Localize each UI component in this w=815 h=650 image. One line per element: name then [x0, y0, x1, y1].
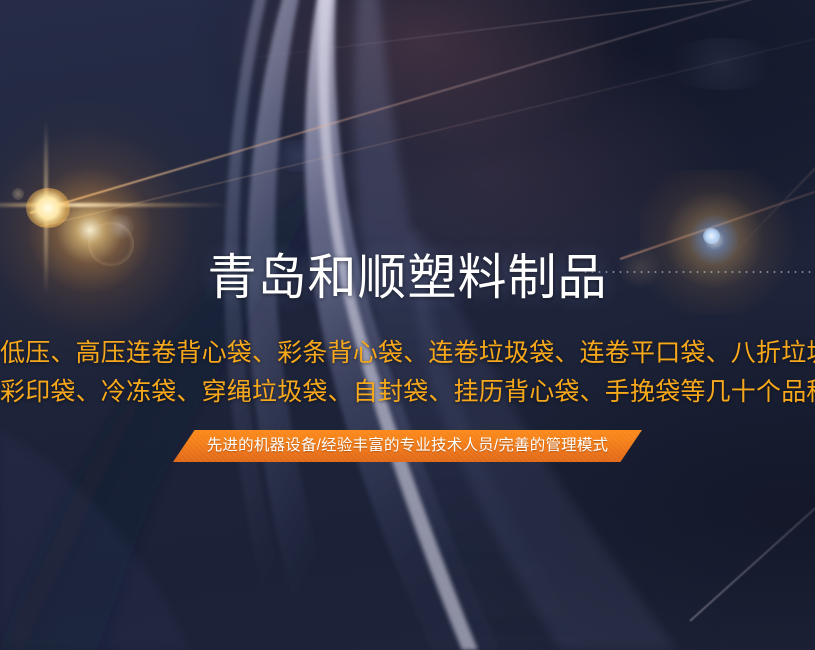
banner-title: 青岛和顺塑料制品 — [0, 250, 815, 306]
tagline-ribbon: 先进的机器设备/经验丰富的专业技术人员/完善的管理模式 — [173, 430, 642, 462]
product-list-line-1: 低压、高压连卷背心袋、彩条背心袋、连卷垃圾袋、连卷平口袋、八折垃圾袋、 — [0, 338, 815, 368]
ribbon-label: 先进的机器设备/经验丰富的专业技术人员/完善的管理模式 — [173, 430, 642, 462]
promotional-banner: 青岛和顺塑料制品 低压、高压连卷背心袋、彩条背心袋、连卷垃圾袋、连卷平口袋、八折… — [0, 0, 815, 650]
product-list-line-2: 彩印袋、冷冻袋、穿绳垃圾袋、自封袋、挂历背心袋、手挽袋等几十个品种 — [0, 377, 815, 407]
banner-content: 青岛和顺塑料制品 低压、高压连卷背心袋、彩条背心袋、连卷垃圾袋、连卷平口袋、八折… — [0, 0, 815, 650]
